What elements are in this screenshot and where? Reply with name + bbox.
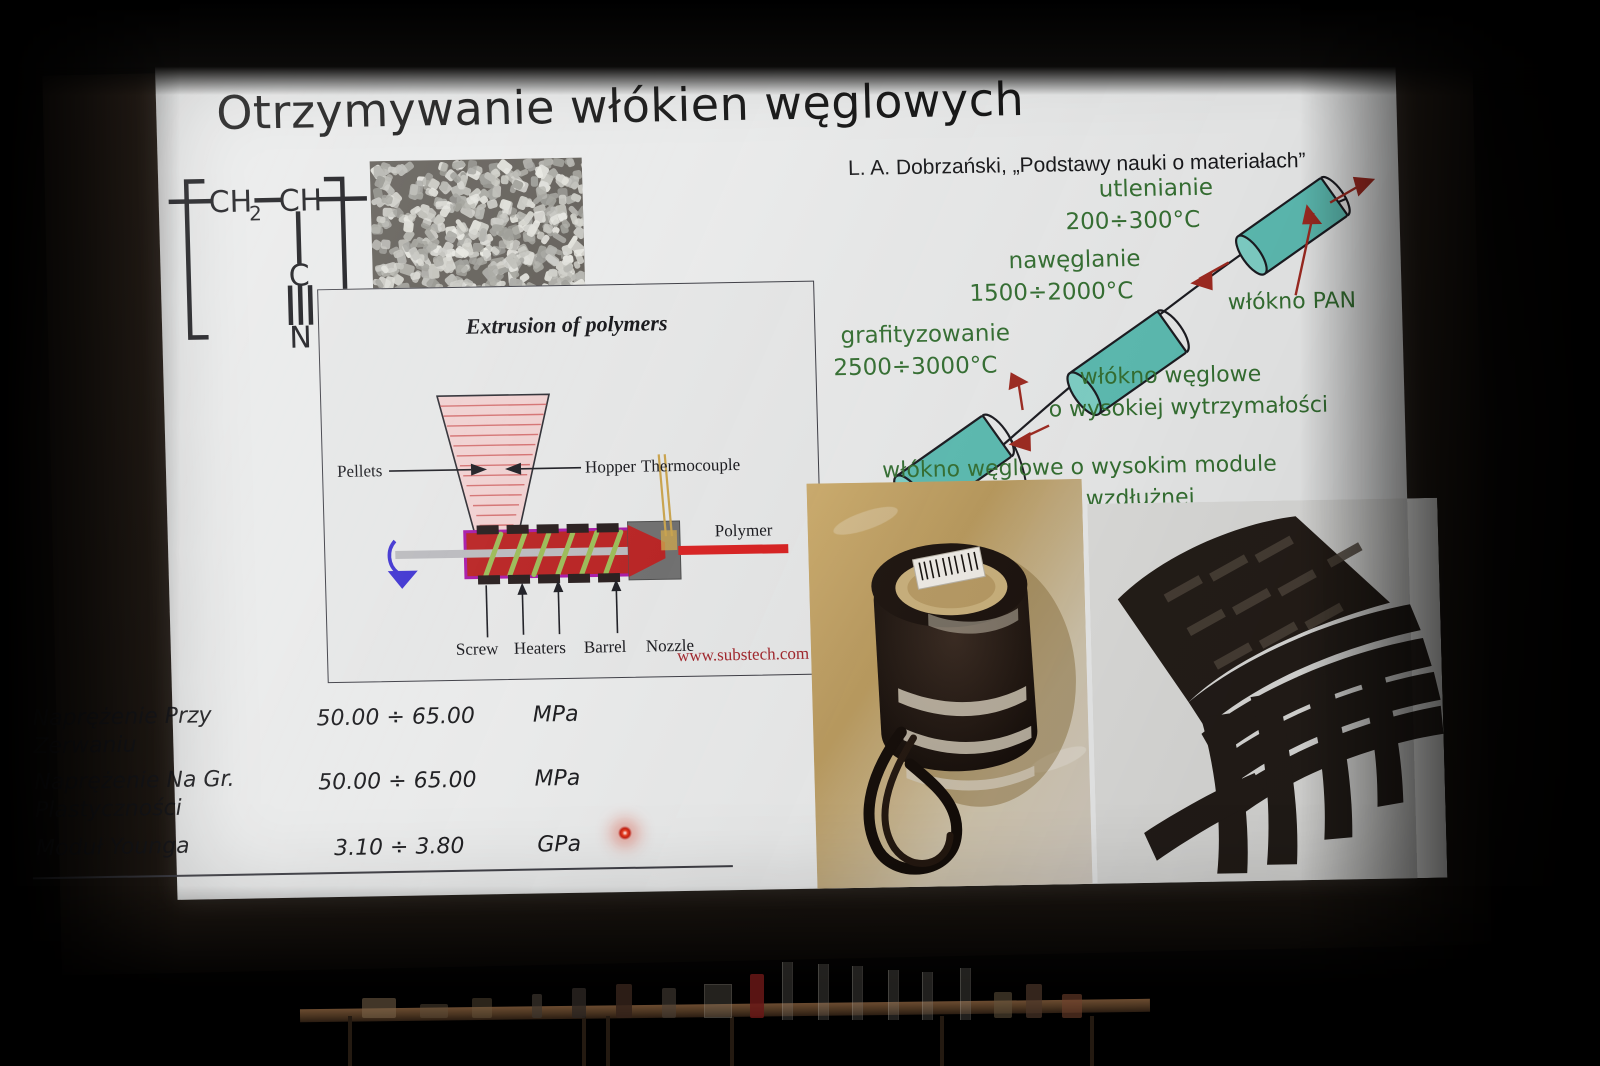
formula-ch2: CH xyxy=(208,184,252,220)
bench-object xyxy=(362,998,396,1018)
step-nawęglanie-temp: 1500÷2000°C xyxy=(969,278,1134,307)
bench-bottle xyxy=(616,984,632,1018)
bench-glass-tube xyxy=(922,972,933,1020)
extrusion-diagram-box: Extrusion of polymers xyxy=(317,281,825,684)
row-value: 3.10 ÷ 3.80 xyxy=(304,833,495,861)
formula-ch2-subscript: 2 xyxy=(249,201,262,225)
polymer-pellets-photo xyxy=(370,158,585,290)
step-nawęglanie-label: nawęglanie xyxy=(1008,246,1141,274)
row-value: 50.00 ÷ 65.00 xyxy=(302,767,493,795)
formula-carbon: C xyxy=(288,258,310,293)
step-utlenianie-label: utlenianie xyxy=(1098,175,1213,203)
substech-credit: www.substech.com xyxy=(677,644,810,666)
formula-nitrogen: N xyxy=(289,320,312,355)
label-pellets: Pellets xyxy=(337,461,383,482)
annotation-hs-line2: o wysokiej wytrzymałości xyxy=(1048,393,1328,423)
label-heaters: Heaters xyxy=(514,638,566,659)
row-unit: MPa xyxy=(500,701,611,728)
step-grafityzowanie-label: grafityzowanie xyxy=(840,320,1010,349)
bench-glass-tube xyxy=(888,970,899,1020)
lab-bench xyxy=(300,952,1170,1066)
bench-glass-tube xyxy=(960,968,971,1020)
formula-ch: CH xyxy=(278,183,322,219)
bench-bottle xyxy=(750,974,764,1018)
step-grafityzowanie-temp: 2500÷3000°C xyxy=(833,352,998,381)
bench-bottle xyxy=(662,988,676,1018)
bench-leg xyxy=(1090,1016,1094,1066)
bench-glass-tube xyxy=(782,962,793,1020)
label-polymer: Polymer xyxy=(715,520,773,541)
label-hopper: Hopper xyxy=(585,457,637,478)
projected-slide-wrapper: Otrzymywanie włókien węglowych L. A. Dob… xyxy=(0,43,1433,907)
label-screw: Screw xyxy=(456,639,499,660)
label-barrel: Barrel xyxy=(584,637,627,658)
bench-object xyxy=(420,1004,448,1018)
bench-bottle xyxy=(532,994,542,1018)
carbon-fibre-spool-photo xyxy=(807,479,1093,889)
bench-object xyxy=(1062,994,1082,1018)
bench-leg xyxy=(606,1016,610,1066)
label-thermocouple: Thermocouple xyxy=(641,455,741,477)
bench-glass-tube xyxy=(818,964,829,1020)
presentation-slide: Otrzymywanie włókien węglowych L. A. Dob… xyxy=(155,43,1417,899)
bench-leg xyxy=(348,1016,352,1066)
bench-object xyxy=(472,998,492,1018)
step-utlenianie-temp: 200÷300°C xyxy=(1065,207,1200,235)
bench-bottle xyxy=(572,988,586,1018)
bench-leg xyxy=(582,1016,586,1066)
bench-leg xyxy=(940,1016,944,1066)
lecture-hall-photo: Otrzymywanie włókien węglowych L. A. Dob… xyxy=(0,0,1600,1066)
row-unit: MPa xyxy=(502,765,613,792)
row-unit: GPa xyxy=(504,831,615,858)
bench-object xyxy=(994,992,1012,1018)
bench-beaker xyxy=(704,984,732,1018)
bench-glass-tube xyxy=(852,966,863,1020)
bench-leg xyxy=(730,1016,734,1066)
bench-bottle xyxy=(1026,984,1042,1018)
laser-pointer-dot xyxy=(618,826,632,840)
row-value: 50.00 ÷ 65.00 xyxy=(300,703,491,731)
annotation-hs-line1: włókno węglowe xyxy=(1079,362,1261,390)
